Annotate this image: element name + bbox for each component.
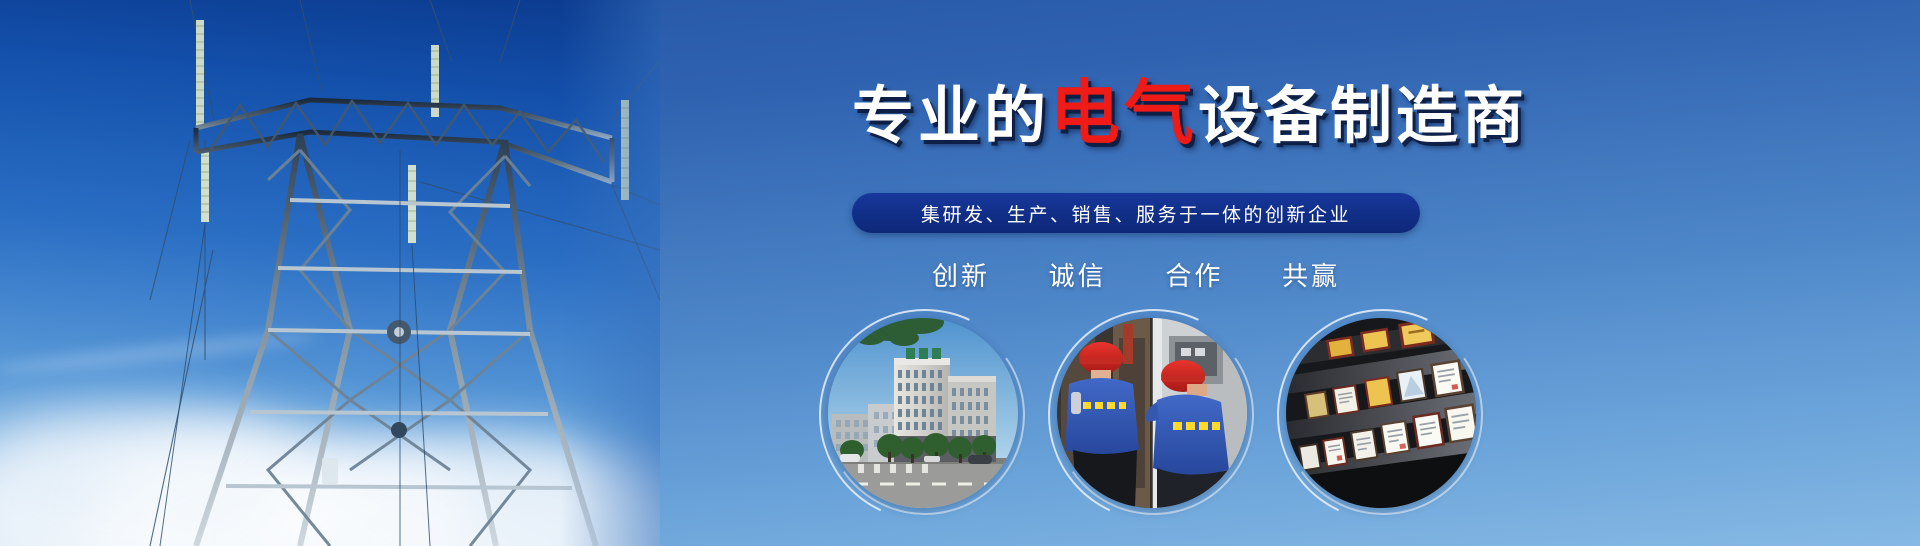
office-building-photo [828, 318, 1018, 508]
circle-photo-group [820, 318, 1480, 528]
keyword-item-3: 合作 [1165, 256, 1223, 293]
keyword-item-2: 诚信 [1049, 256, 1107, 293]
headline-part-1: 专业的 [852, 79, 1050, 152]
keyword-item-1: 创新 [932, 256, 990, 293]
headline-part-2: 设备制造商 [1198, 79, 1528, 152]
circle-photo-2 [1057, 318, 1247, 508]
page-title: 专业的电气设备制造商 [852, 78, 1528, 148]
certificates-wall-photo [1286, 318, 1476, 508]
transmission-tower-photo [0, 0, 660, 546]
subtitle-pill: 集研发、生产、销售、服务于一体的创新企业 [852, 193, 1420, 233]
subtitle-text: 集研发、生产、销售、服务于一体的创新企业 [921, 200, 1351, 227]
keyword-list: 创新 诚信 合作 共赢 [852, 256, 1420, 293]
headline-highlight: 电气 [1050, 72, 1198, 154]
keyword-item-4: 共赢 [1282, 256, 1340, 293]
pylon-structure-icon [0, 0, 660, 546]
circle-photo-1 [828, 318, 1018, 508]
workers-installation-photo [1057, 318, 1247, 508]
hero-banner: 专业的电气设备制造商 集研发、生产、销售、服务于一体的创新企业 创新 诚信 合作… [0, 0, 1920, 546]
circle-photo-3 [1286, 318, 1476, 508]
